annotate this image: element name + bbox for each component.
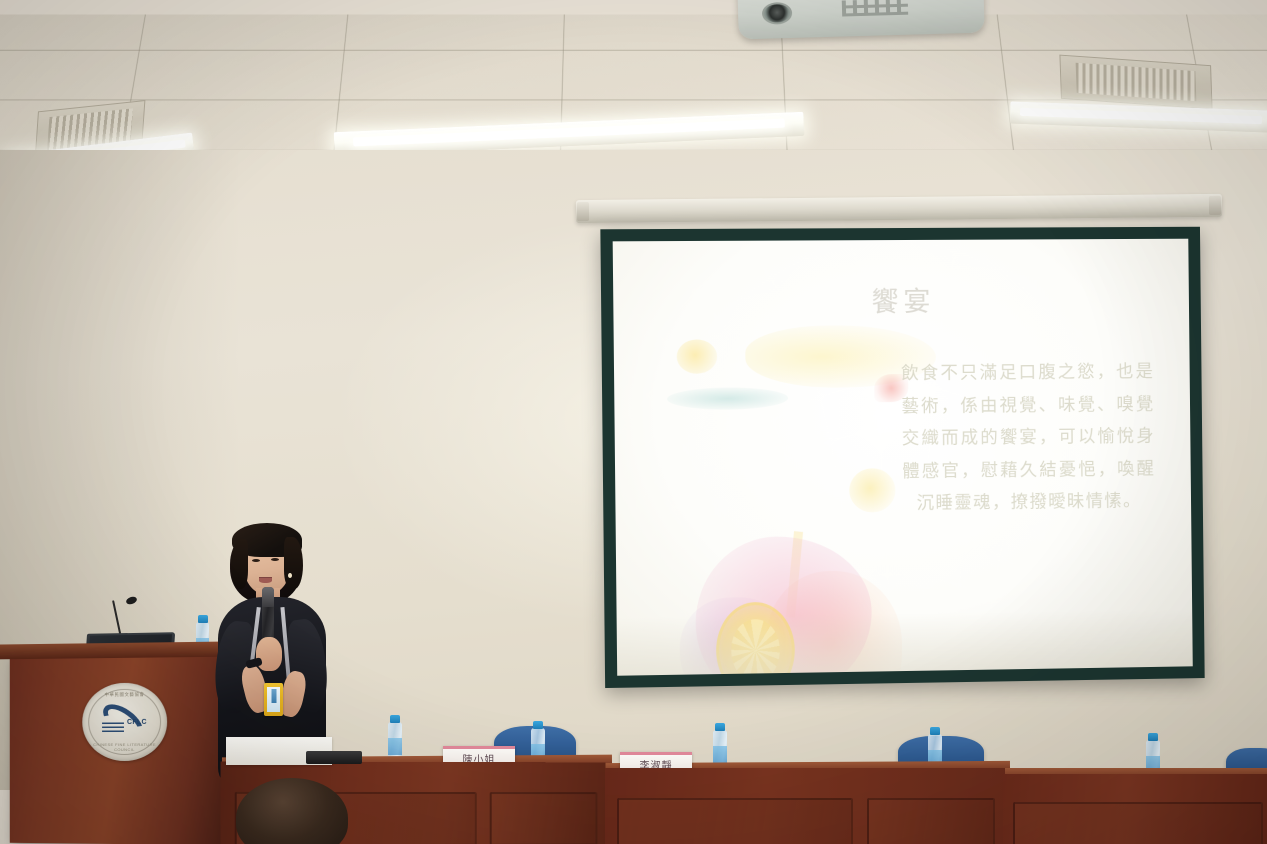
conference-room-photo: PROJECTOR 饗宴 飲食不只滿足口腹 xyxy=(0,0,1267,844)
presenter-id-badge xyxy=(264,683,283,716)
table-front-panel-2 xyxy=(605,768,1005,844)
presenter-hand xyxy=(256,637,282,671)
presenter-eye-left xyxy=(252,559,260,562)
emblem-top-text: 中華民國文藝協會 xyxy=(82,692,167,699)
slide-art-teal-brush xyxy=(667,387,788,410)
wooden-podium: 中華民國文藝協會 CFLC CHINESE FINE LITERATURE CO… xyxy=(10,654,221,844)
slide-title: 饗宴 xyxy=(871,280,935,319)
slide-art-stem xyxy=(786,531,803,618)
projection-screen: 饗宴 飲食不只滿足口腹之慾，也是藝術，係由視覺、味覺、嗅覺交織而成的饗宴，可以愉… xyxy=(600,227,1204,688)
slide-art-lemon-mid xyxy=(849,468,896,513)
table-front-panel-3 xyxy=(1003,774,1267,844)
presenter-eye-right xyxy=(271,558,279,561)
emblem-bars-icon xyxy=(102,721,124,732)
cflc-emblem: 中華民國文藝協會 CFLC CHINESE FINE LITERATURE CO… xyxy=(82,683,167,762)
presenter-mouth xyxy=(259,577,272,583)
projector-lens-icon xyxy=(762,2,793,25)
ceiling-projector: PROJECTOR xyxy=(737,0,984,39)
projector-control-buttons[interactable] xyxy=(842,0,908,17)
emblem-acronym: CFLC xyxy=(127,719,147,726)
presenter-hair-side-left xyxy=(231,539,248,589)
slide-art-lemon-top xyxy=(677,339,718,374)
dark-equipment xyxy=(306,751,362,764)
emblem-bottom-text: CHINESE FINE LITERATURE COUNCIL xyxy=(82,742,167,752)
presenter-earring xyxy=(288,573,292,578)
slide-body-text: 飲食不只滿足口腹之慾，也是藝術，係由視覺、味覺、嗅覺交織而成的饗宴，可以愉悅身體… xyxy=(901,356,1156,521)
